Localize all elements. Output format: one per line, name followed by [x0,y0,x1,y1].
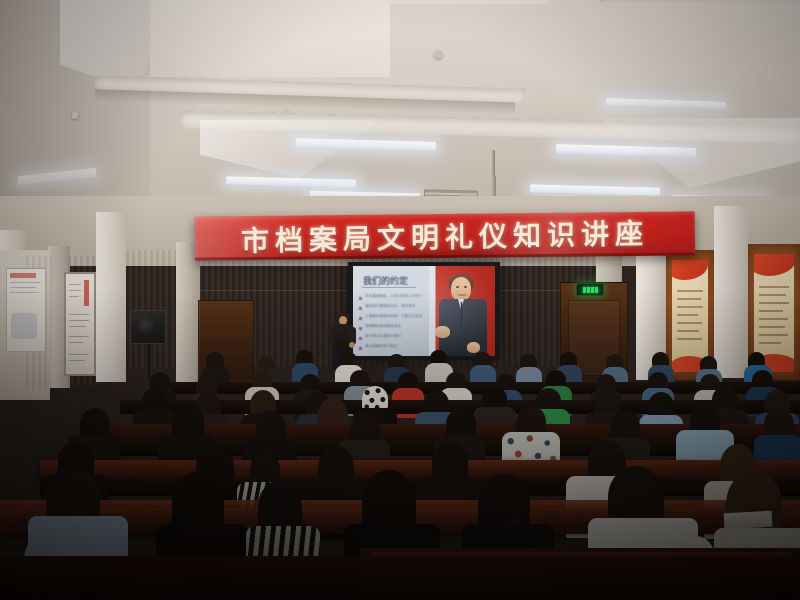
ceiling-light [226,176,356,187]
notebook [724,511,773,529]
slide-bullet: 讲授期间请勿随意进出 [365,324,401,329]
wall-pilaster [96,212,126,382]
slide-title: 我们的约定 [363,274,408,287]
sprinkler-head [72,112,78,119]
exit-sign [576,283,604,296]
slide-bullet: 有不明之处请举手提问 [365,334,401,339]
sprinkler-head [434,50,443,59]
bench-row [0,556,360,600]
wall-pilaster [714,206,748,378]
speaker-cone [138,318,156,334]
ceiling [0,0,800,215]
slide-photo [429,266,495,356]
slide-bullet: 上课期间请保持安静，不要交头接耳 [365,314,423,319]
slide-bullet: 手机调到静音，以免打扰他人的学习 [365,294,423,299]
left-wall-poster [6,268,46,352]
phone [506,518,520,526]
slide-bullet: 课间请不要随意走动，请勿喧哗 [365,304,415,309]
lecture-hall-photo: 市档案局文明礼仪知识讲座 我们的约定 手机调到静音，以免打扰他人的学习 课间请不… [0,0,800,600]
right-wall-poster-a [672,260,708,372]
ceiling-light [530,184,660,195]
slide-bullet: 请认真做好学习笔记 [365,344,397,349]
wall-pilaster [176,242,200,382]
left-notice-board [64,272,96,376]
ceiling-light [606,98,726,109]
projection-screen: 我们的约定 手机调到静音，以免打扰他人的学习 课间请不要随意走动，请勿喧哗 上课… [353,266,495,356]
